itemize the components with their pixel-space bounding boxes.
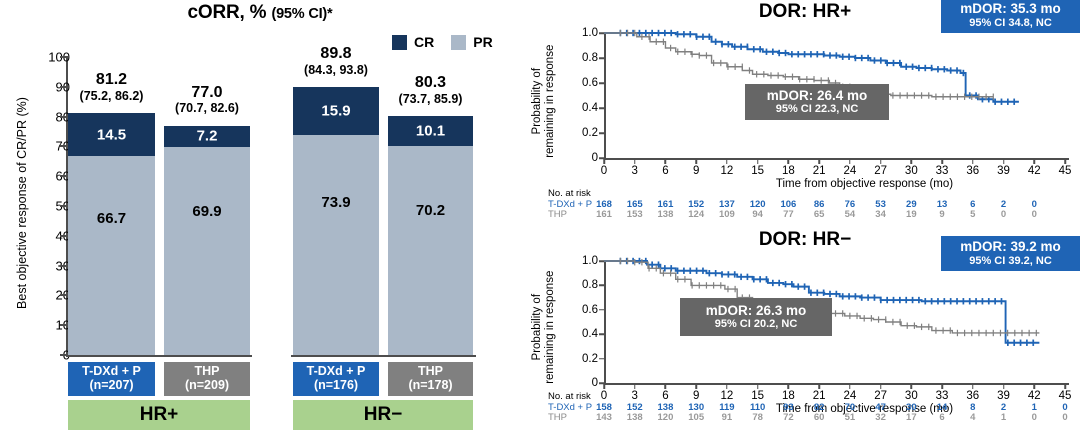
bar-chart-title-text: cORR, % (188, 2, 267, 23)
mdor-ci: 95% CI 34.8, NC (969, 17, 1052, 30)
at-risk-cell: 143 (592, 412, 616, 423)
at-risk-cell: 153 (623, 209, 647, 220)
at-risk-cell: 91 (715, 412, 739, 423)
at-risk-cell: 19 (899, 209, 923, 220)
bar-segment-pr: 73.9 (293, 135, 379, 355)
arm-box-tdxd-p: T-DXd + P(n=207) (68, 362, 155, 396)
arm-n: (n=207) (89, 379, 133, 393)
mdor-annotation-thp: mDOR: 26.4 mo95% CI 22.3, NC (745, 84, 889, 120)
at-risk-cell: 138 (653, 209, 677, 220)
mdor-median: mDOR: 26.4 mo (767, 88, 868, 104)
bar-total-value: 80.3 (415, 74, 446, 91)
arm-n: (n=209) (185, 379, 229, 393)
at-risk-cell: 6 (930, 412, 954, 423)
at-risk-cell: 78 (746, 412, 770, 423)
bar-segment-pr-value: 70.2 (388, 202, 473, 219)
at-risk-cell: 77 (776, 209, 800, 220)
at-risk-cell: 1 (992, 412, 1016, 423)
bar-segment-cr-value: 14.5 (68, 126, 155, 143)
bar-y-tick-mark (60, 294, 68, 296)
bar-chart-title-subtext: (95% CI)* (271, 6, 332, 22)
bar-total-value: 81.2 (96, 71, 127, 88)
mdor-ci: 95% CI 22.3, NC (776, 103, 859, 116)
at-risk-cell: 54 (838, 209, 862, 220)
at-risk-cell: 105 (684, 412, 708, 423)
at-risk-cell: 94 (746, 209, 770, 220)
arm-label: T-DXd + P (82, 365, 141, 379)
mdor-ci: 95% CI 39.2, NC (969, 255, 1052, 268)
at-risk-row-label: THP (548, 412, 567, 423)
bar-total-value: 89.8 (320, 45, 351, 62)
legend-swatch-cr-icon (392, 35, 407, 50)
at-risk-cell: 0 (1022, 412, 1046, 423)
stacked-bar: 10.170.2 (388, 116, 473, 355)
bar-total-ci: (73.7, 85.9) (374, 93, 487, 106)
bar-chart-title: cORR, % (95% CI)* (0, 2, 520, 24)
mdor-median: mDOR: 26.3 mo (706, 303, 807, 319)
bar-segment-cr-value: 7.2 (164, 128, 250, 145)
stacked-bar: 14.566.7 (68, 113, 155, 355)
at-risk-cell: 4 (961, 412, 985, 423)
bar-y-tick-mark (60, 265, 68, 267)
bar-segment-pr: 69.9 (164, 147, 250, 355)
at-risk-cell: 5 (961, 209, 985, 220)
bar-y-tick-mark (60, 324, 68, 326)
arm-box-tdxd-p: T-DXd + P(n=176) (293, 362, 379, 396)
at-risk-cell: 138 (623, 412, 647, 423)
at-risk-cell: 161 (592, 209, 616, 220)
bar-segment-pr: 66.7 (68, 156, 155, 355)
bar-chart-baseline-group-2 (291, 355, 476, 357)
at-risk-cell: 0 (992, 209, 1016, 220)
bar-segment-cr: 10.1 (388, 116, 473, 146)
bar-chart-legend: CR PR (392, 34, 503, 50)
mdor-annotation-tdxd-p: mDOR: 35.3 mo95% CI 34.8, NC (941, 0, 1080, 33)
arm-label: THP (418, 365, 443, 379)
corr-bar-chart-panel: cORR, % (95% CI)* Best objective respons… (0, 0, 520, 434)
mdor-median: mDOR: 39.2 mo (960, 239, 1061, 255)
at-risk-cell: 72 (776, 412, 800, 423)
at-risk-cell: 9 (930, 209, 954, 220)
legend-swatch-pr-icon (451, 35, 466, 50)
bar-y-tick-mark (60, 175, 68, 177)
bar-segment-cr: 15.9 (293, 87, 379, 134)
bar-segment-pr-value: 69.9 (164, 203, 250, 220)
bar-segment-pr-value: 73.9 (293, 194, 379, 211)
bar-segment-cr: 14.5 (68, 113, 155, 156)
mdor-annotation-thp: mDOR: 26.3 mo95% CI 20.2, NC (680, 298, 832, 336)
group-box-hr-negative: HR− (293, 400, 473, 430)
bar-total-label: 80.3(73.7, 85.9) (374, 75, 487, 106)
arm-box-thp: THP(n=178) (388, 362, 473, 396)
bar-segment-pr: 70.2 (388, 146, 473, 355)
stacked-bar: 7.269.9 (164, 126, 250, 355)
bar-y-tick-mark (60, 145, 68, 147)
legend-label-cr: CR (414, 34, 434, 50)
mdor-annotation-tdxd-p: mDOR: 39.2 mo95% CI 39.2, NC (941, 236, 1080, 271)
bar-segment-cr-value: 15.9 (293, 103, 379, 120)
at-risk-row-label: THP (548, 209, 567, 220)
at-risk-cell: 120 (653, 412, 677, 423)
bar-segment-pr-value: 66.7 (68, 210, 155, 227)
arm-box-thp: THP(n=209) (164, 362, 250, 396)
bar-total-ci: (70.7, 82.6) (150, 102, 264, 115)
at-risk-title: No. at risk (548, 391, 591, 402)
at-risk-title: No. at risk (548, 188, 591, 199)
bar-segment-cr-value: 10.1 (388, 122, 473, 139)
at-risk-cell: 124 (684, 209, 708, 220)
at-risk-cell: 51 (838, 412, 862, 423)
bar-segment-cr: 7.2 (164, 126, 250, 147)
group-box-hr-positive: HR+ (68, 400, 250, 430)
at-risk-cell: 109 (715, 209, 739, 220)
dor-hr-negative-panel: DOR: HR− 1.00.80.60.40.20036912151821242… (530, 228, 1080, 434)
bar-total-label: 89.8(84.3, 93.8) (279, 46, 393, 77)
at-risk-cell: 32 (869, 412, 893, 423)
at-risk-cell: 17 (899, 412, 923, 423)
at-risk-cell: 65 (807, 209, 831, 220)
bar-total-value: 77.0 (191, 84, 222, 101)
arm-label: T-DXd + P (307, 365, 366, 379)
mdor-ci: 95% CI 20.2, NC (715, 318, 798, 331)
bar-y-tick-mark (60, 56, 68, 58)
bar-chart-baseline-group-1 (66, 355, 252, 357)
at-risk-cell: 60 (807, 412, 831, 423)
bar-y-tick-mark (60, 116, 68, 118)
arm-n: (n=178) (408, 379, 452, 393)
arm-label: THP (195, 365, 220, 379)
stacked-bar: 15.973.9 (293, 87, 379, 355)
at-risk-cell: 0 (1022, 209, 1046, 220)
at-risk-cell: 0 (1053, 412, 1077, 423)
dor-hr-positive-panel: DOR: HR+ 1.00.80.60.40.20036912151821242… (530, 0, 1080, 232)
at-risk-cell: 34 (869, 209, 893, 220)
bar-y-tick-mark (60, 205, 68, 207)
arm-n: (n=176) (314, 379, 358, 393)
bar-y-tick-mark (60, 235, 68, 237)
legend-label-pr: PR (473, 34, 492, 50)
mdor-median: mDOR: 35.3 mo (960, 1, 1061, 17)
bar-total-label: 77.0(70.7, 82.6) (150, 85, 264, 116)
